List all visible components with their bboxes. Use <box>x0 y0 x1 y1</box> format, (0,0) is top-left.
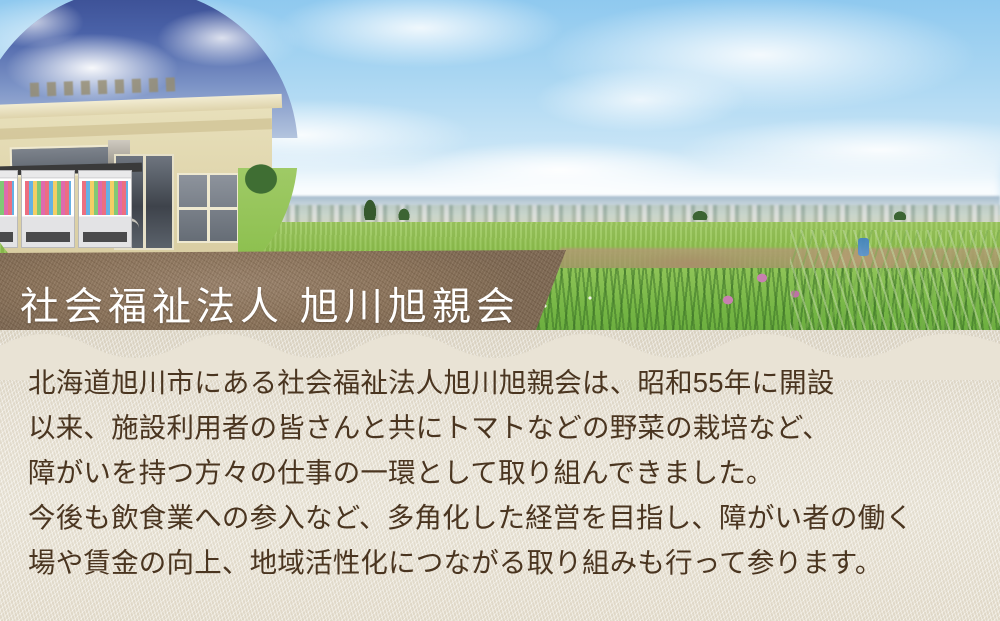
promo-banner-root: 社会福祉法人 旭川旭親会 北海道旭川市にある社会福祉法人旭川旭親会は、昭和55年… <box>0 0 1000 621</box>
vending-machine <box>78 170 132 248</box>
description-text-block: 北海道旭川市にある社会福祉法人旭川旭親会は、昭和55年に開設 以来、施設利用者の… <box>0 360 1000 585</box>
description-line: 北海道旭川市にある社会福祉法人旭川旭親会は、昭和55年に開設 <box>28 360 972 405</box>
vending-machine-row <box>0 170 132 248</box>
person-in-field <box>858 238 869 256</box>
description-line: 場や賃金の向上、地域活性化につながる取り組みも行って参ります。 <box>28 540 972 585</box>
inset-tree-right <box>238 158 284 200</box>
description-line: 今後も飲食業への参入など、多角化した経営を目指し、障がい者の働く <box>28 495 972 540</box>
vending-machine <box>21 170 75 248</box>
description-line: 以来、施設利用者の皆さんと共にトマトなどの野菜の栽培など、 <box>28 405 972 450</box>
description-line: 障がいを持つ方々の仕事の一環として取り組んできました。 <box>28 450 972 495</box>
building-window-right <box>177 173 239 243</box>
vending-machine <box>0 170 18 248</box>
